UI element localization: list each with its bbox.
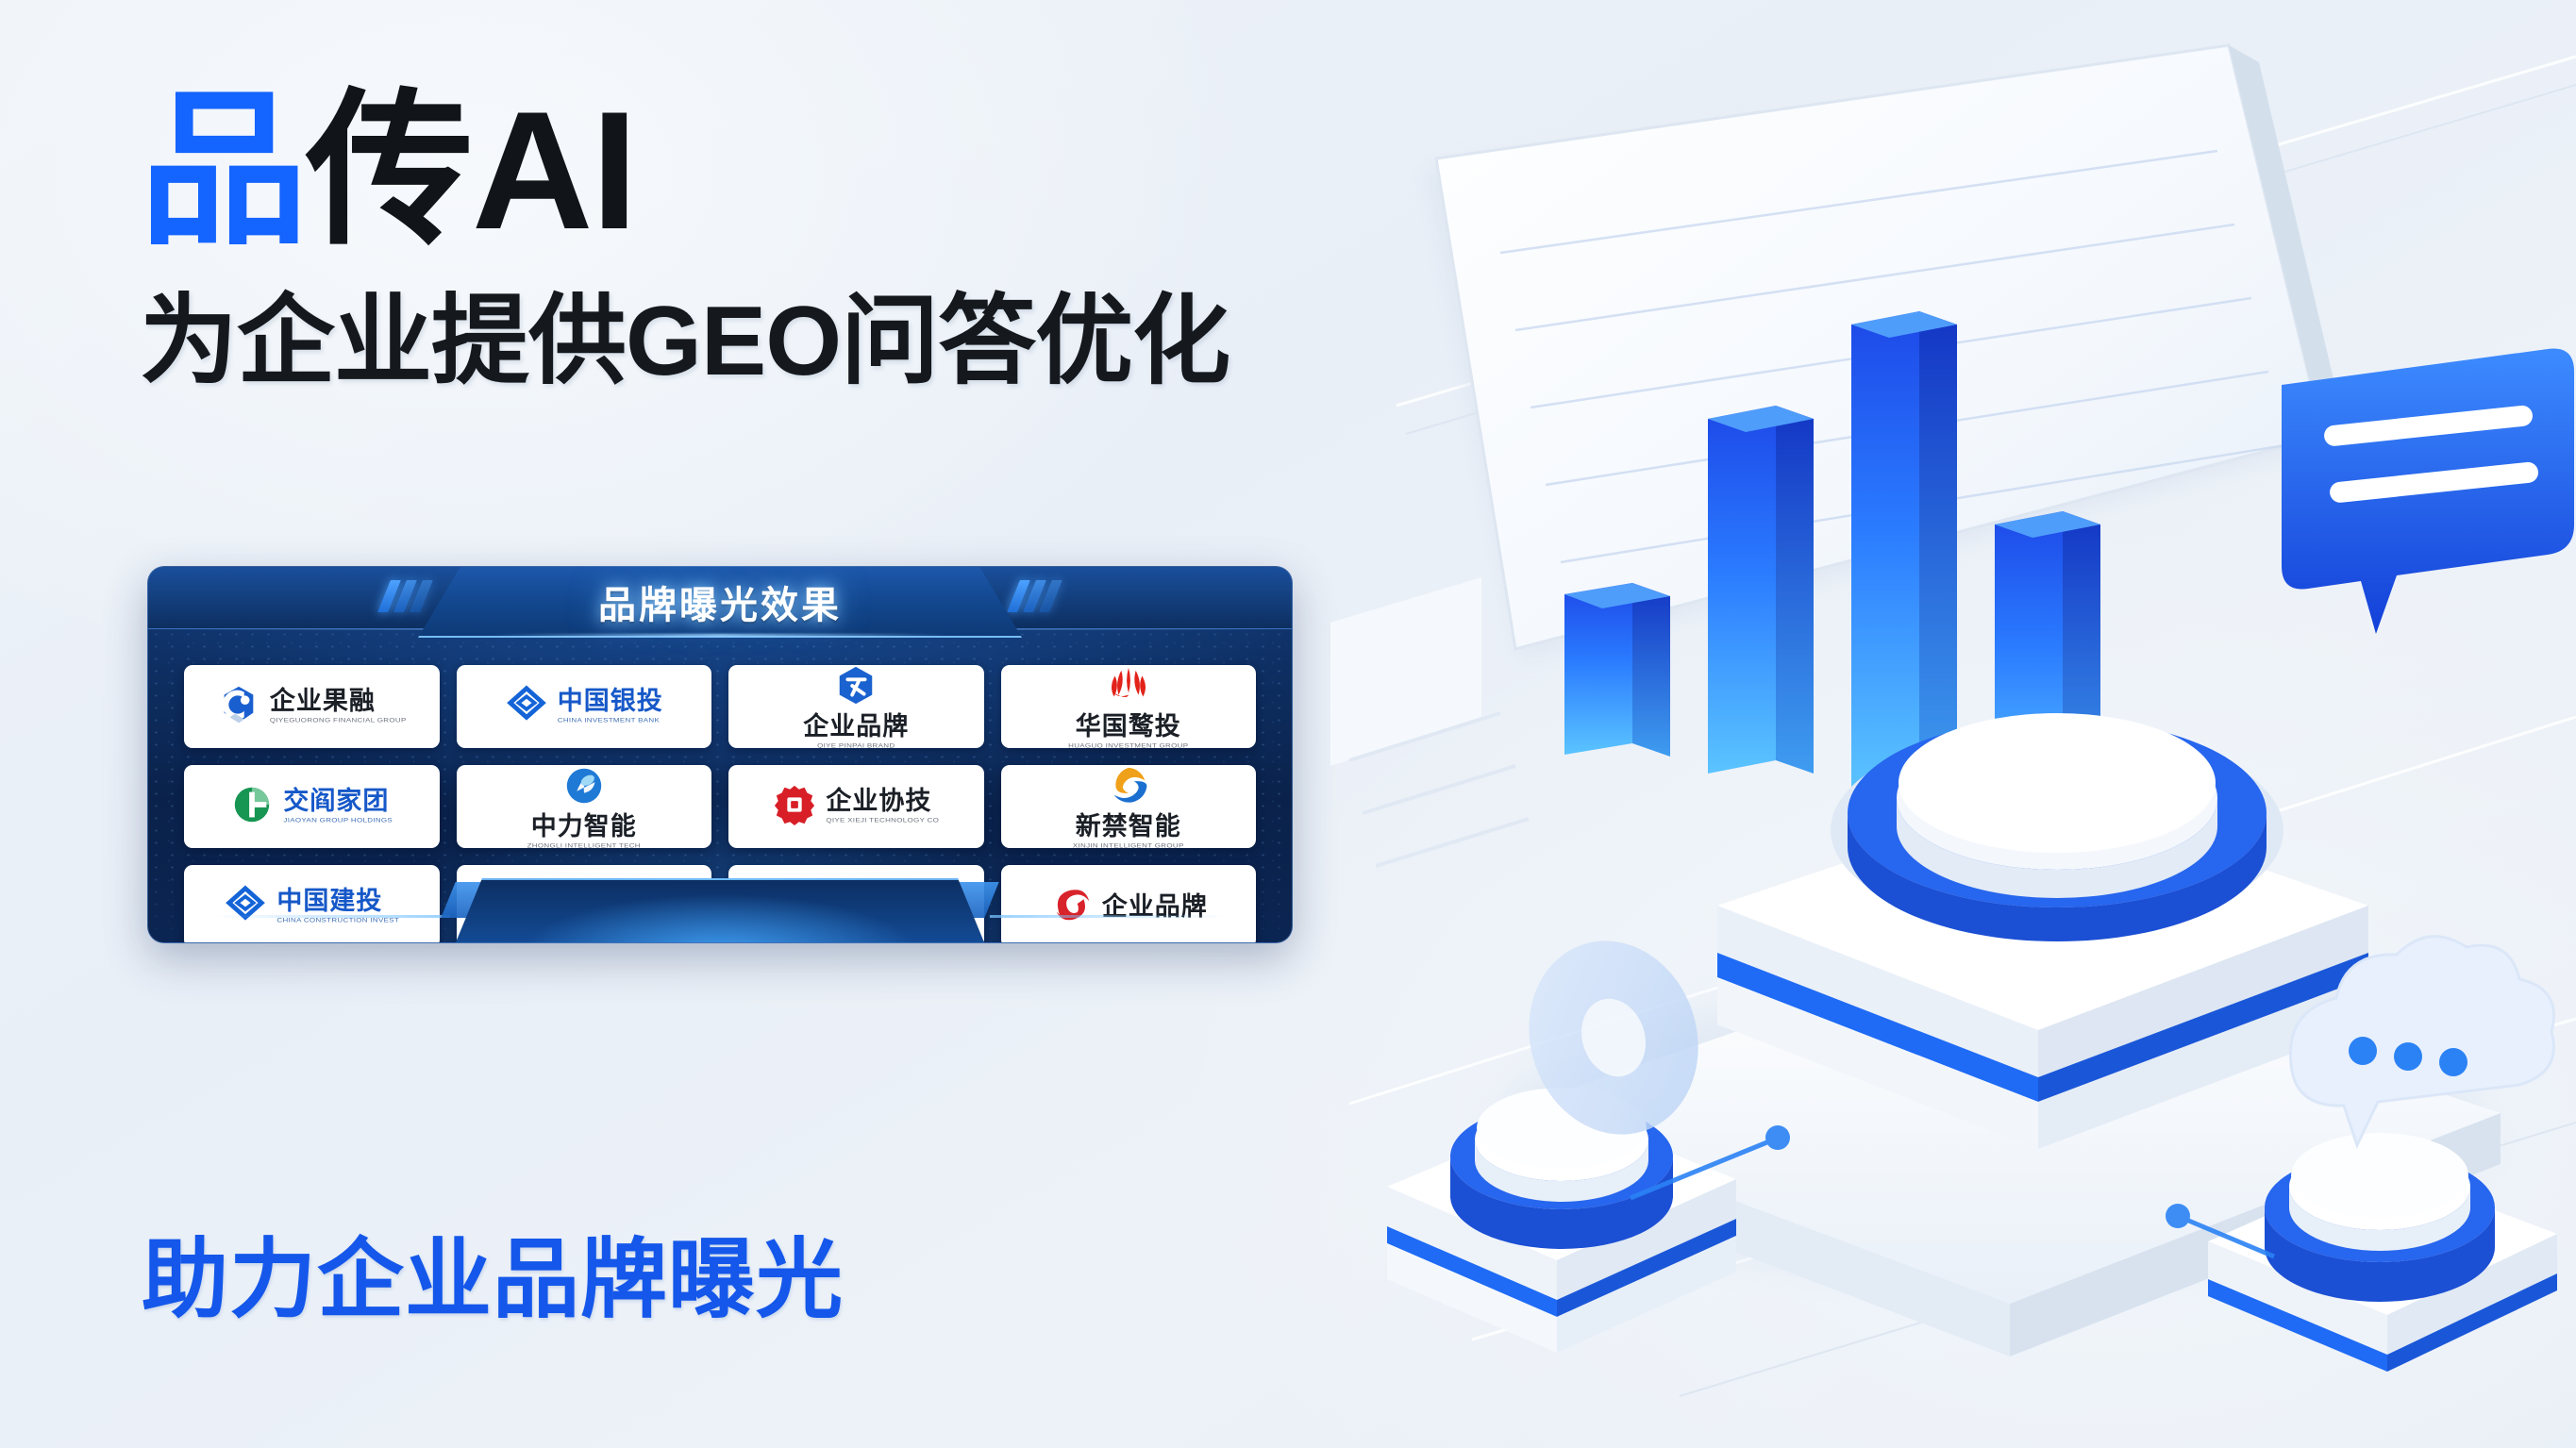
logo-text: 中力智能ZHONGLI INTELLIGENT TECH	[527, 814, 641, 849]
logo-name-en: HUAGUO INVESTMENT GROUP	[1068, 742, 1188, 748]
hero-tagline: 助力企业品牌曝光	[142, 1209, 844, 1335]
logo-name-en: QIYE XIEJI TECHNOLOGY CO	[826, 818, 939, 824]
logo-name-cn: 中力智能	[531, 814, 637, 840]
footer-rail-right	[990, 915, 1226, 918]
chart-card-3d	[1425, 45, 2350, 811]
logo-name-en: ZHONGLI INTELLIGENT TECH	[527, 842, 641, 848]
logo-card[interactable]: 交阎家团JIAOYAN GROUP HOLDINGS	[184, 765, 440, 848]
footer-glow-plate	[456, 878, 984, 942]
logo-name-cn: 企业果融	[270, 689, 407, 714]
logo-name-en: CHINA INVESTMENT BANK	[558, 718, 663, 724]
logo-lockup: 新禁智能XINJIN INTELLIGENT GROUP	[1073, 765, 1184, 848]
red-fan-icon	[1107, 665, 1150, 712]
floating-slabs-3d	[1330, 577, 1529, 866]
logo-name-en: QIYEGUORONG FINANCIAL GROUP	[270, 718, 407, 724]
panel-footer-decoration	[148, 857, 1292, 942]
logo-name-cn: 华国鹜投	[1076, 714, 1181, 740]
brand-title-blue: 品	[140, 87, 306, 255]
logo-card[interactable]: 中力智能ZHONGLI INTELLIGENT TECH	[457, 765, 712, 848]
logo-name-cn: 中国银投	[558, 689, 663, 714]
logo-lockup: 企业协技QIYE XIEJI TECHNOLOGY CO	[773, 783, 939, 831]
logo-name-cn: 新禁智能	[1076, 814, 1181, 840]
logo-text: 企业协技QIYE XIEJI TECHNOLOGY CO	[826, 789, 939, 824]
panel-banner-title: 品牌曝光效果	[598, 574, 842, 629]
logo-text: 中国银投CHINA INVESTMENT BANK	[558, 689, 663, 724]
logo-lockup: 企业品牌QIYE PINPAI BRAND	[803, 665, 909, 748]
banner-chevrons-right	[1013, 580, 1056, 612]
logo-lockup: 企业果融QIYEGUORONG FINANCIAL GROUP	[217, 683, 407, 731]
brand-exposure-panel: 品牌曝光效果 企业果融QIYEGUORONG FINANCIAL GROUP 中…	[147, 566, 1293, 943]
swirl-orange-icon	[1107, 765, 1150, 812]
logo-card[interactable]: 中国银投CHINA INVESTMENT BANK	[457, 665, 712, 748]
hero-headline: 为企业提供GEO问答优化	[140, 289, 1366, 394]
logo-card[interactable]: 华国鹜投HUAGUO INVESTMENT GROUP	[1001, 665, 1257, 748]
green-circle-icon	[230, 783, 274, 831]
logo-name-en: XINJIN INTELLIGENT GROUP	[1073, 842, 1184, 848]
logo-card[interactable]: 企业品牌QIYE PINPAI BRAND	[728, 665, 984, 748]
red-gear-icon	[773, 783, 816, 831]
footer-rail-left	[214, 915, 450, 918]
blue-circle-icon	[562, 765, 606, 812]
logo-card[interactable]: 企业协技QIYE XIEJI TECHNOLOGY CO	[728, 765, 984, 848]
logo-lockup: 中国银投CHINA INVESTMENT BANK	[505, 683, 663, 731]
logo-name-cn: 交阎家团	[283, 789, 393, 814]
logo-name-cn: 企业品牌	[803, 714, 909, 740]
logo-text: 企业品牌QIYE PINPAI BRAND	[803, 714, 909, 749]
logo-card[interactable]: 企业果融QIYEGUORONG FINANCIAL GROUP	[184, 665, 440, 748]
logo-name-en: QIYE PINPAI BRAND	[817, 742, 895, 748]
logo-text: 新禁智能XINJIN INTELLIGENT GROUP	[1073, 814, 1184, 849]
logo-name-en: JIAOYAN GROUP HOLDINGS	[283, 818, 393, 824]
brand-title-dark: 传AI	[306, 87, 636, 255]
hex-arrow-icon	[834, 665, 878, 712]
logo-name-cn: 企业协技	[826, 789, 939, 814]
c-shape-icon	[217, 683, 260, 731]
logo-lockup: 中力智能ZHONGLI INTELLIGENT TECH	[527, 765, 641, 848]
logo-text: 华国鹜投HUAGUO INVESTMENT GROUP	[1068, 714, 1188, 749]
logo-card[interactable]: 新禁智能XINJIN INTELLIGENT GROUP	[1001, 765, 1257, 848]
logo-text: 交阎家团JIAOYAN GROUP HOLDINGS	[283, 789, 393, 824]
logo-lockup: 交阎家团JIAOYAN GROUP HOLDINGS	[230, 783, 393, 831]
isometric-3d-illustration	[1330, 0, 2576, 1448]
banner-chevrons-left	[384, 580, 427, 612]
brand-logo-title: 品传AI	[140, 87, 1366, 255]
chat-bubble-icon	[2282, 349, 2574, 635]
diamond-swirl-icon	[505, 683, 548, 731]
logo-text: 企业果融QIYEGUORONG FINANCIAL GROUP	[270, 689, 407, 724]
logo-lockup: 华国鹜投HUAGUO INVESTMENT GROUP	[1068, 665, 1188, 748]
hero-text-column: 品传AI 为企业提供GEO问答优化	[140, 87, 1366, 394]
